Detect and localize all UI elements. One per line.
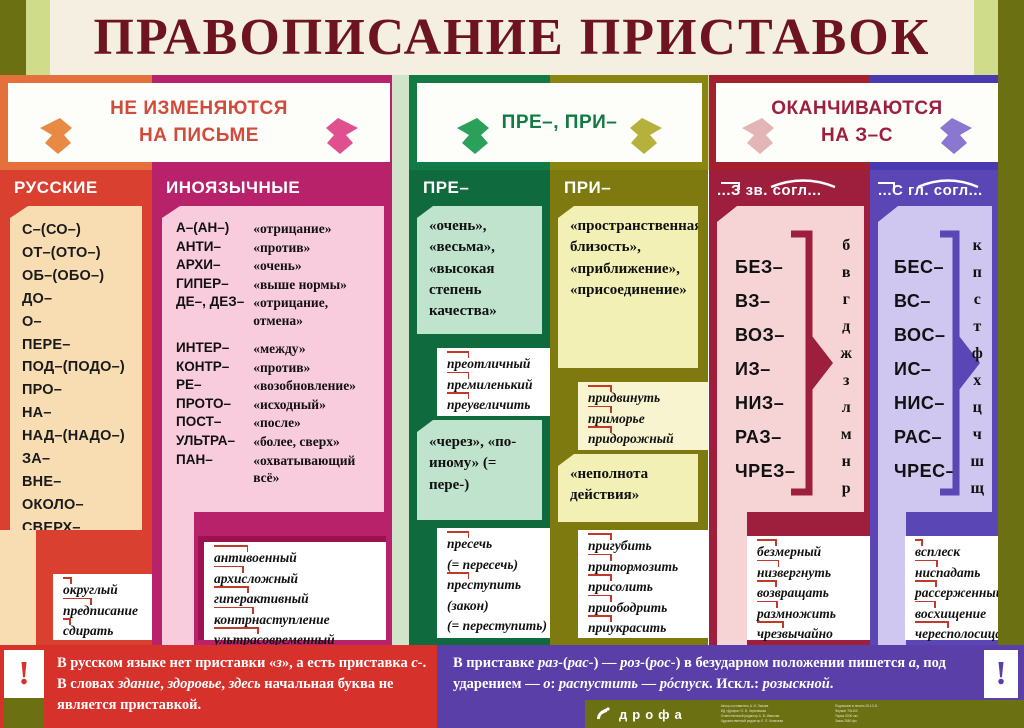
frame-stripe-olive-left (0, 0, 26, 75)
note-right-bang: ! (984, 650, 1018, 698)
column-z-cons-filler (717, 512, 747, 645)
examples-foreign: антивоенный архисложный гиперактивный ко… (198, 536, 386, 640)
arrow-down-left-green-icon (455, 116, 491, 156)
prefix-item: О– (22, 311, 142, 334)
drofa-logo-icon (595, 707, 611, 721)
examples-pre-1: преотличный премиленький преувеличить (437, 348, 552, 416)
examples-z-cons: безмерный низвергнуть возвращать размнож… (747, 536, 880, 640)
column-russian-header: РУССКИЕ (0, 170, 152, 206)
column-foreign-header: ИНОЯЗЫЧНЫЕ (152, 170, 392, 206)
section-header-ends-line1: ОКАНЧИВАЮТСЯ (771, 97, 942, 121)
arrow-down-right-icon (324, 116, 360, 156)
section-header-unchanged-line2: НА ПИСЬМЕ (139, 124, 259, 148)
arrow-down-right-violet-icon (938, 116, 974, 156)
letter-item: з (840, 367, 852, 394)
column-foreign-filler (162, 512, 194, 645)
column-pri-header-label: ПРИ– (550, 178, 611, 198)
publisher-bar: дрофа Автор-составитель А. И. Львова ИД … (585, 700, 1024, 728)
column-pre-header-label: ПРЕ– (409, 178, 469, 198)
table-row: КОНТР–«против» (176, 359, 373, 378)
column-pri-meaning2: «неполнота действия» (558, 454, 698, 522)
letter-item: л (840, 394, 852, 421)
column-russian-body: С–(СО–) ОТ–(ОТО–) ОБ–(ОБО–) ДО– О– ПЕРЕ–… (10, 206, 142, 530)
table-row: ПАН–«охватывающий всё» (176, 452, 373, 488)
table-row: РЕ–«возобновление» (176, 377, 373, 396)
prefix-item: ЗА– (22, 448, 142, 471)
column-s-cons-header: ...С гл. согл... (870, 170, 998, 206)
letter-item: м (840, 421, 852, 448)
section-header-ends: ОКАНЧИВАЮТСЯ НА З–С (716, 83, 998, 162)
column-z-cons-header: ...З зв. согл... (709, 170, 870, 206)
letter-item: д (840, 313, 852, 340)
section-header-pre-pri: ПРЕ–, ПРИ– (417, 83, 702, 162)
section-header-row: НЕ ИЗМЕНЯЮТСЯ НА ПИСЬМЕ ПРЕ–, ПРИ– ОКАНЧ… (0, 75, 1024, 170)
section-header-ends-line2: НА З–С (821, 124, 893, 148)
column-z-cons-letters: б в г д ж з л м н р (840, 232, 852, 502)
table-row-spacer (176, 330, 373, 340)
examples-pri-2: пригубить притормозить присолить приобод… (578, 530, 708, 638)
prefix-item: ДО– (22, 288, 142, 311)
example-word: приукрасить (588, 618, 700, 639)
note-left-bang-base (4, 698, 44, 728)
spacer-palegreen (392, 170, 409, 645)
column-pri-header: ПРИ– (550, 170, 708, 206)
example-word: сдирать (63, 621, 147, 642)
table-row: ПРОТО–«исходный» (176, 396, 373, 415)
column-pre-meaning1-text: «очень», «весьма», «высокая степень каче… (417, 206, 542, 322)
letter-item: ж (840, 340, 852, 367)
frame-stripe-olive-right (998, 0, 1024, 75)
table-row: ПОСТ–«после» (176, 414, 373, 433)
letter-item: р (840, 475, 852, 502)
morpheme-marks-icon (719, 174, 859, 190)
column-s-cons-body: БЕС– ВС– ВОС– ИС– НИС– РАС– ЧРЕС– к п с … (878, 206, 992, 512)
example-word: преувеличить (447, 395, 544, 416)
column-pri-meaning1: «пространственная близость», «приближени… (558, 206, 698, 368)
publisher-credits: Автор-составитель А. И. Львова ИД «Дрофа… (721, 704, 783, 723)
hdr-bg-oliveedge (998, 75, 1024, 170)
table-row: ИНТЕР–«между» (176, 340, 373, 359)
prefix-item: ПОД–(ПОДО–) (22, 356, 142, 379)
example-word: придорожный (588, 429, 700, 450)
example-word: преступить (447, 575, 544, 596)
column-pre: ПРЕ– «очень», «весьма», «высокая степень… (409, 170, 550, 645)
examples-pri-1: придвинуть приморье придорожный (578, 382, 708, 450)
table-row: А–(АН–)«отрицание» (176, 220, 373, 239)
prefix-item: СВЕРХ– (22, 517, 142, 540)
section-header-pre-pri-line1: ПРЕ–, ПРИ– (502, 111, 618, 135)
table-row: АНТИ–«против» (176, 239, 373, 258)
letter-item: к (970, 232, 984, 259)
prefix-item: ПРО– (22, 379, 142, 402)
column-foreign-header-label: ИНОЯЗЫЧНЫЕ (152, 178, 300, 198)
publisher-printinfo: Подписано в печать 05.10.11 Формат 70х10… (835, 704, 878, 723)
table-row: ГИПЕР–«выше нормы» (176, 276, 373, 295)
column-foreign-table: А–(АН–)«отрицание» АНТИ–«против» АРХИ–«о… (176, 220, 373, 488)
arrow-down-left-icon (38, 116, 74, 156)
example-word: (= переступить) (447, 616, 544, 637)
prefix-item: НАД–(НАДО–) (22, 425, 142, 448)
column-pre-meaning2: «через», «по-иному» (= пере-) (417, 420, 542, 520)
example-word: (закон) (447, 596, 544, 617)
table-row: ДЕ–, ДЕЗ–«отрицание, отмена» (176, 294, 373, 330)
prefix-item: ВНЕ– (22, 471, 142, 494)
examples-russian: округлый предписание сдирать (47, 568, 155, 640)
letter-item: ч (970, 421, 984, 448)
column-russian-header-label: РУССКИЕ (0, 178, 98, 198)
note-left: В русском языке нет приставки «з», а ест… (0, 645, 437, 728)
letter-item: т (970, 313, 984, 340)
frame-stripe-olive-body-right (998, 170, 1024, 645)
column-pre-header: ПРЕ– (409, 170, 550, 206)
column-z-cons-body: БЕЗ– ВЗ– ВОЗ– ИЗ– НИЗ– РАЗ– ЧРЕЗ– б в г … (717, 206, 864, 512)
letter-item: н (840, 448, 852, 475)
letter-item: щ (970, 475, 984, 502)
note-left-text: В русском языке нет приставки «з», а ест… (0, 645, 437, 716)
table-row: УЛЬТРА–«более, сверх» (176, 433, 373, 452)
poster-root: ПРАВОПИСАНИЕ ПРИСТАВОК НЕ ИЗМЕНЯЮТСЯ НА … (0, 0, 1024, 728)
arrow-down-right-olive-icon (628, 116, 664, 156)
prefix-item: ПЕРЕ– (22, 334, 142, 357)
frame-stripe-lime-left (26, 0, 50, 75)
column-foreign-body: А–(АН–)«отрицание» АНТИ–«против» АРХИ–«о… (162, 206, 384, 512)
section-header-unchanged: НЕ ИЗМЕНЯЮТСЯ НА ПИСЬМЕ (8, 83, 390, 162)
column-pri-meaning1-text: «пространственная близость», «приближени… (558, 206, 698, 301)
examples-pre-2: пресечь (= пересечь) преступить (закон) … (437, 528, 552, 638)
column-pre-meaning2-text: «через», «по-иному» (= пере-) (417, 420, 542, 496)
note-left-bang: ! (4, 650, 44, 698)
example-word: предписание (63, 601, 147, 622)
column-s-cons-filler (878, 512, 906, 645)
publisher-name: дрофа (619, 707, 687, 722)
letter-item: ф (970, 340, 984, 367)
letter-item: ц (970, 394, 984, 421)
note-right-text: В приставке раз-(рас-) — роз-(рос-) в бе… (437, 645, 1024, 695)
column-s-cons-letters: к п с т ф х ц ч ш щ (970, 232, 984, 502)
section-header-unchanged-line1: НЕ ИЗМЕНЯЮТСЯ (110, 97, 288, 121)
page-title: ПРАВОПИСАНИЕ ПРИСТАВОК (94, 12, 931, 64)
prefix-item: ПРОТИВО– (22, 540, 142, 563)
prefix-item: ОКОЛО– (22, 494, 142, 517)
column-pri-meaning2-text: «неполнота действия» (558, 454, 698, 507)
letter-item: в (840, 259, 852, 286)
prefix-item: ОТ–(ОТО–) (22, 242, 142, 265)
letter-item: п (970, 259, 984, 286)
letter-item: х (970, 367, 984, 394)
letter-item: с (970, 286, 984, 313)
hdr-bg-palegreen (392, 75, 409, 170)
arrow-down-left-pink-icon (740, 116, 776, 156)
prefix-item: С–(СО–) (22, 219, 142, 242)
example-word: чрезвычайно (757, 624, 872, 645)
frame-stripe-lime-right (974, 0, 998, 75)
column-russian-prefix-list: С–(СО–) ОТ–(ОТО–) ОБ–(ОБО–) ДО– О– ПЕРЕ–… (10, 206, 142, 586)
poster-title-band: ПРАВОПИСАНИЕ ПРИСТАВОК (50, 0, 974, 75)
letter-item: ш (970, 448, 984, 475)
bracket-arrow-icon (779, 228, 835, 498)
letter-item: б (840, 232, 852, 259)
prefix-item: ОБ–(ОБО–) (22, 265, 142, 288)
column-pri: ПРИ– «пространственная близость», «прибл… (550, 170, 708, 645)
letter-item: г (840, 286, 852, 313)
morpheme-marks-icon (876, 174, 996, 190)
column-russian-filler (0, 530, 36, 645)
example-word: пресечь (447, 534, 544, 555)
table-row: АРХИ–«очень» (176, 257, 373, 276)
column-pre-meaning1: «очень», «весьма», «высокая степень каче… (417, 206, 542, 334)
prefix-item: НА– (22, 402, 142, 425)
